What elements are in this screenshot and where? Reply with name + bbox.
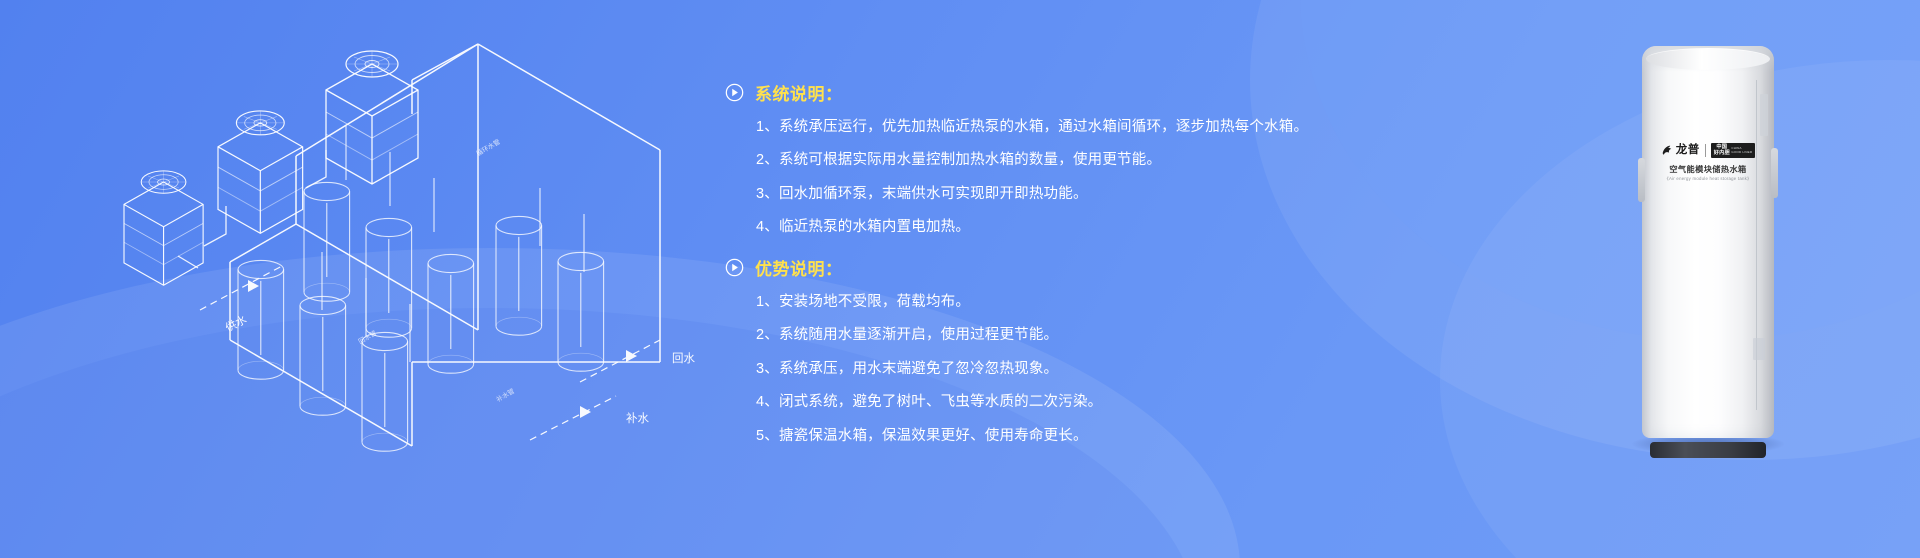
- list-item: 2、系统可根据实际用水量控制加热水箱的数量，使用更节能。: [756, 149, 1325, 171]
- play-circle-icon: [725, 83, 744, 102]
- badge-line-2: 好内胆: [1714, 151, 1730, 157]
- list-item: 4、闭式系统，避免了树叶、飞虫等水质的二次污染。: [756, 391, 1325, 413]
- tank-seam-line: [1756, 80, 1757, 410]
- dragon-logo-icon: [1661, 144, 1674, 157]
- tank-cylinder-body: 龙普 中国 好内胆 CHINA GOOD LINER 空气能模: [1642, 46, 1774, 438]
- tank-branding: 龙普 中国 好内胆 CHINA GOOD LINER 空气能模: [1642, 142, 1774, 182]
- quality-badge: 中国 好内胆 CHINA GOOD LINER: [1711, 143, 1756, 158]
- list-item: 3、回水加循环泵，末端供水可实现即开即热功能。: [756, 183, 1325, 205]
- section-advantage-description: 优势说明： 1、安装场地不受限，荷载均布。 2、系统随用水量逐渐开启，使用过程更…: [725, 255, 1325, 447]
- tank-base-foot: [1650, 442, 1766, 458]
- section-title-system: 系统说明：: [755, 80, 843, 105]
- list-item: 3、系统承压，用水末端避免了忽冷忽热现象。: [756, 358, 1325, 380]
- list-item: 1、系统承压运行，优先加热临近热泵的水箱，通过水箱间循环，逐步加热每个水箱。: [756, 116, 1325, 138]
- diagram-label-makeup-water: 补水: [626, 412, 649, 425]
- diagram-label-pipe-small-3: 补水管: [495, 386, 517, 404]
- section-title-advantage: 优势说明：: [755, 255, 843, 280]
- decorative-wave-top-right-2: [1300, 0, 1920, 340]
- product-image-water-tank: 龙普 中国 好内胆 CHINA GOOD LINER 空气能模: [1642, 36, 1774, 446]
- list-item: 2、系统随用水量逐渐开启，使用过程更节能。: [756, 324, 1325, 346]
- list-item: 1、安装场地不受限，荷载均布。: [756, 291, 1325, 313]
- section-header-advantage: 优势说明：: [725, 255, 1325, 280]
- badge-en-2: GOOD LINER: [1731, 151, 1752, 154]
- play-circle-icon: [725, 258, 744, 277]
- system-description-list: 1、系统承压运行，优先加热临近热泵的水箱，通过水箱间循环，逐步加热每个水箱。 2…: [725, 116, 1325, 239]
- product-banner: 供水 回水 补水 循环水管 回水管 补水管: [0, 0, 1920, 558]
- description-panel: 系统说明： 1、系统承压运行，优先加热临近热泵的水箱，通过水箱间循环，逐步加热每…: [725, 80, 1325, 447]
- brand-logo: 龙普: [1661, 144, 1700, 157]
- list-item: 5、搪瓷保温水箱，保温效果更好、使用寿命更长。: [756, 425, 1325, 447]
- diagram-label-supply-water: 供水: [223, 312, 249, 335]
- tank-port-left: [1638, 158, 1645, 202]
- decorative-wave-top-right: [1250, 0, 1920, 460]
- brand-divider: [1705, 144, 1706, 157]
- list-item: 4、临近热泵的水箱内置电加热。: [756, 216, 1325, 238]
- tank-side-sticker: [1760, 94, 1768, 136]
- section-system-description: 系统说明： 1、系统承压运行，优先加热临近热泵的水箱，通过水箱间循环，逐步加热每…: [725, 80, 1325, 239]
- brand-row: 龙普 中国 好内胆 CHINA GOOD LINER: [1642, 142, 1774, 159]
- product-model-cn: 空气能模块储热水箱: [1642, 163, 1774, 175]
- tank-top-ellipse: [1646, 48, 1770, 70]
- tank-rating-plate: [1753, 338, 1765, 360]
- section-header-system: 系统说明：: [725, 80, 1325, 105]
- product-model-en: 《Air energy module heat storage tank》: [1642, 176, 1774, 182]
- advantage-description-list: 1、安装场地不受限，荷载均布。 2、系统随用水量逐渐开启，使用过程更节能。 3、…: [725, 291, 1325, 447]
- tank-port-right: [1771, 148, 1778, 198]
- brand-name-text: 龙普: [1676, 145, 1700, 157]
- system-schematic-diagram: 供水 回水 补水 循环水管 回水管 补水管: [60, 10, 790, 480]
- diagram-label-return-water: 回水: [672, 352, 695, 365]
